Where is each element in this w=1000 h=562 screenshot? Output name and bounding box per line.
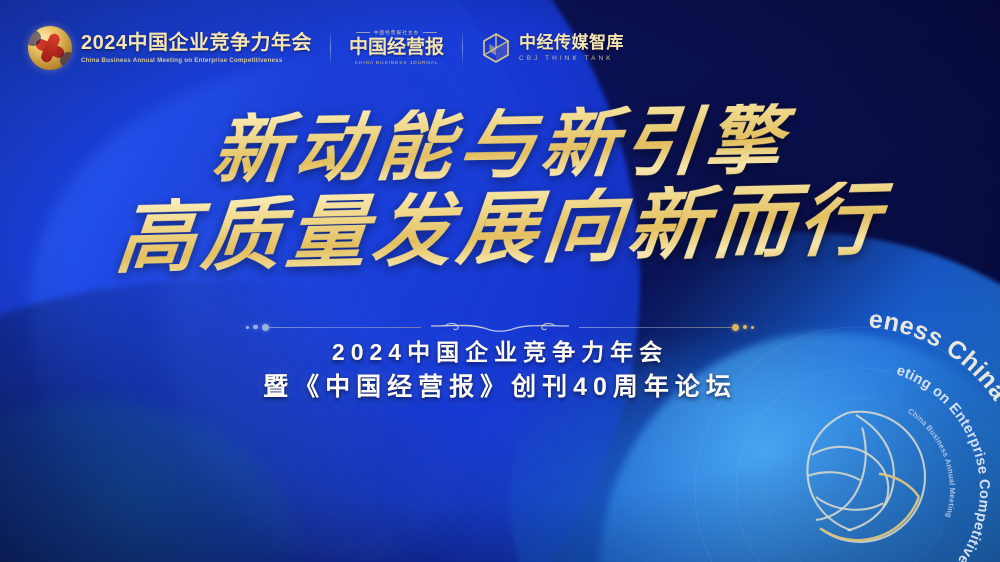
background-teal-glow [0, 400, 300, 562]
think-tank-logo: 中经传媒智库 CBJ THINK TANK [481, 32, 624, 64]
think-tank-text-block: 中经传媒智库 CBJ THINK TANK [519, 34, 624, 63]
poster-stage: 2024中国企业竞争力年会 China Business Annual Meet… [0, 0, 1000, 562]
header-logo-bar: 2024中国企业竞争力年会 China Business Annual Meet… [28, 26, 624, 70]
divider-left-dots [246, 324, 269, 331]
divider-line-right [579, 327, 732, 328]
journal-topline: 中国经营报社主办 [349, 30, 444, 36]
journal-logo: 中国经营报社主办 中国经营报 CHINA BUSINESS JOURNAL [349, 30, 444, 67]
think-tank-title-en: CBJ THINK TANK [519, 55, 624, 62]
subtitle-line-2: 暨《中国经营报》创刊40周年论坛 [0, 369, 1000, 405]
divider-dot [732, 324, 739, 331]
logo-divider-2 [462, 30, 463, 66]
gold-sphere-red-swirl-emblem-icon [28, 26, 72, 70]
logo-divider-1 [330, 30, 331, 66]
think-tank-title-cn: 中经传媒智库 [519, 34, 624, 53]
divider-dot [262, 324, 269, 331]
journal-title-en: CHINA BUSINESS JOURNAL [349, 61, 444, 66]
main-event-logo: 2024中国企业竞争力年会 China Business Annual Meet… [28, 26, 312, 70]
journal-micro-text: 中国经营报社主办 [374, 30, 420, 36]
divider-dot [743, 325, 748, 330]
subtitle-line-1: 2024中国企业竞争力年会 [0, 336, 1000, 369]
journal-rule-left [356, 32, 370, 33]
divider-dot [253, 325, 258, 330]
divider-line-left [269, 327, 422, 328]
decorative-divider [246, 320, 754, 334]
headline-line-2: 高质量发展向新而行 [0, 177, 1000, 283]
sphere-swirl-outline-logo-icon [807, 412, 925, 542]
watermark-micro-text: China Business Annual Meeting [906, 406, 957, 519]
hexagon-cube-icon [481, 32, 511, 64]
main-logo-text-block: 2024中国企业竞争力年会 China Business Annual Meet… [81, 33, 312, 64]
main-logo-title-en: China Business Annual Meeting on Enterpr… [81, 57, 312, 64]
journal-title-cn: 中国经营报 [349, 38, 444, 59]
divider-right-dots [732, 324, 755, 331]
main-logo-title-cn: 2024中国企业竞争力年会 [81, 33, 312, 54]
subtitle-block: 2024中国企业竞争力年会 暨《中国经营报》创刊40周年论坛 [0, 336, 1000, 406]
headline-block: 新动能与新引擎 高质量发展向新而行 [0, 108, 1000, 271]
flourish-ornament-icon [425, 320, 575, 334]
divider-dot [246, 326, 249, 329]
journal-rule-right [423, 32, 437, 33]
divider-dot [751, 326, 754, 329]
